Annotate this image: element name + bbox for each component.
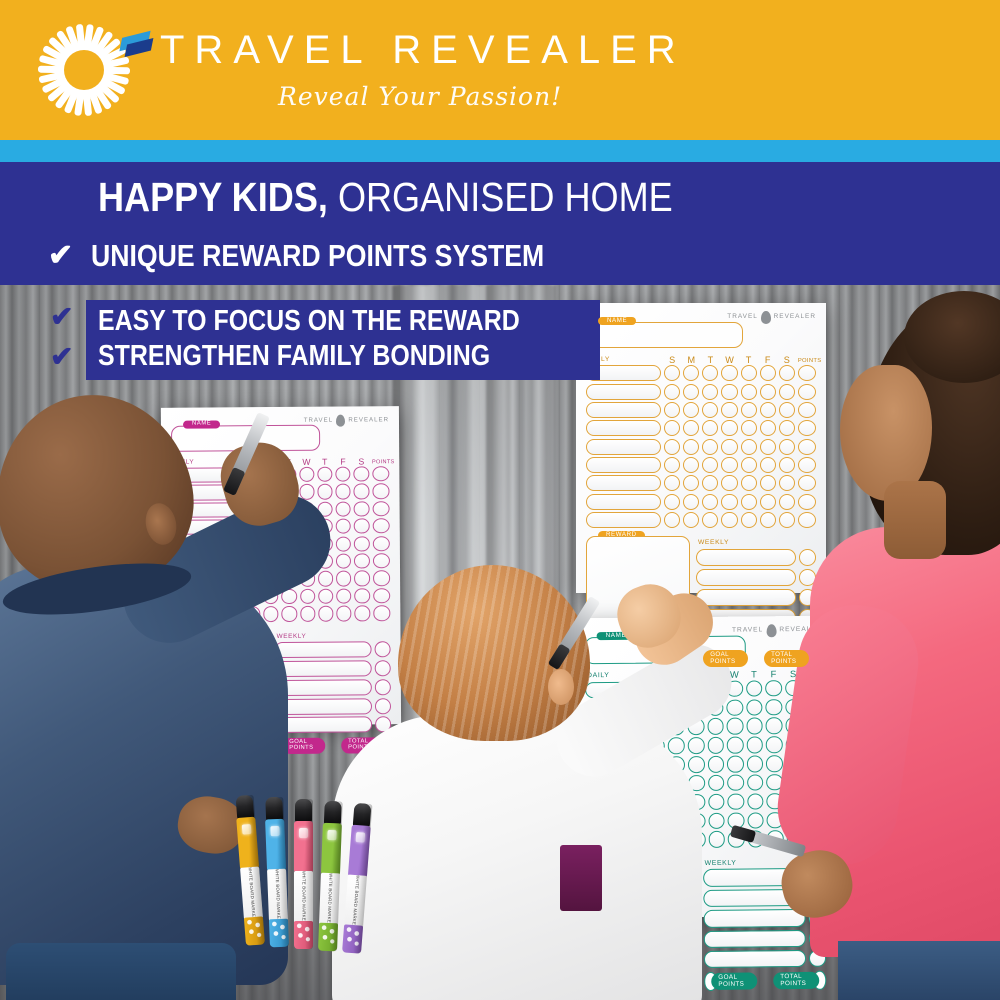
primary-bullet: ✔ UNIQUE REWARD POINTS SYSTEM <box>48 238 618 274</box>
points-circle[interactable] <box>798 402 816 418</box>
day-checkbox[interactable] <box>760 365 776 381</box>
day-checkbox[interactable] <box>721 384 737 400</box>
day-checkbox[interactable] <box>721 475 737 491</box>
day-checkbox[interactable] <box>721 439 737 455</box>
logo-dot-icon <box>761 311 771 324</box>
day-checkbox[interactable] <box>664 384 680 400</box>
headline-light: ORGANISED HOME <box>328 174 673 220</box>
primary-bullet-label: UNIQUE REWARD POINTS SYSTEM <box>91 238 544 274</box>
day-checkbox[interactable] <box>760 457 776 473</box>
day-checkbox[interactable] <box>664 420 680 436</box>
day-checkbox[interactable] <box>766 736 783 753</box>
day-checkbox[interactable] <box>318 571 333 586</box>
day-checkbox[interactable] <box>354 501 369 516</box>
secondary-bullet-box: EASY TO FOCUS ON THE REWARD STRENGTHEN F… <box>86 300 600 380</box>
day-checkbox[interactable] <box>721 365 737 381</box>
brand-text-block: TRAVEL REVEALER Reveal Your Passion! <box>160 30 686 111</box>
task-input[interactable] <box>586 384 661 400</box>
day-label-6: S <box>779 356 795 365</box>
weekly-task-row[interactable] <box>704 950 827 969</box>
day-checkbox[interactable] <box>779 439 795 455</box>
day-checkbox[interactable] <box>766 755 783 772</box>
cyan-divider-bar <box>0 140 1000 162</box>
child-right <box>828 305 1000 1000</box>
child-center <box>372 565 702 1000</box>
day-checkbox[interactable] <box>355 588 370 603</box>
day-label-3: W <box>721 356 737 365</box>
day-checkbox[interactable] <box>708 775 725 792</box>
day-checkbox[interactable] <box>702 494 718 510</box>
page-title: HAPPY KIDS, ORGANISED HOME <box>98 176 673 219</box>
points-circle[interactable] <box>798 420 816 436</box>
day-checkbox[interactable] <box>318 589 333 604</box>
day-checkbox[interactable] <box>354 571 369 586</box>
day-checkbox[interactable] <box>335 466 350 481</box>
day-checkbox[interactable] <box>702 402 718 418</box>
day-checkbox[interactable] <box>707 737 724 754</box>
marker-blue[interactable]: WHITE BOARD MARKER <box>264 797 289 948</box>
daily-task-row[interactable] <box>586 512 816 528</box>
day-checkbox[interactable] <box>336 554 351 569</box>
day-checkbox[interactable] <box>760 420 776 436</box>
day-checkbox[interactable] <box>760 512 776 528</box>
day-checkbox[interactable] <box>336 484 351 499</box>
weekly-task-input[interactable] <box>696 589 796 606</box>
day-checkbox[interactable] <box>721 494 737 510</box>
day-checkbox[interactable] <box>354 553 369 568</box>
task-input[interactable] <box>586 475 661 491</box>
secondary-bullet-label-0: EASY TO FOCUS ON THE REWARD <box>98 305 520 338</box>
headline-strong: HAPPY KIDS, <box>98 174 328 220</box>
day-checkbox[interactable] <box>741 420 757 436</box>
day-checkbox[interactable] <box>779 512 795 528</box>
points-circle[interactable] <box>798 439 816 455</box>
day-checkbox[interactable] <box>741 512 757 528</box>
day-checkbox[interactable] <box>779 384 795 400</box>
daily-task-row[interactable] <box>586 420 816 436</box>
day-checkbox[interactable] <box>741 439 757 455</box>
day-checkbox[interactable] <box>721 402 737 418</box>
day-header-row: SMTWTFSPOINTS <box>664 356 816 365</box>
day-checkbox[interactable] <box>741 475 757 491</box>
marker-pink[interactable]: WHITE BOARD MARKER <box>294 799 313 949</box>
brand-header: TRAVEL REVEALER Reveal Your Passion! <box>0 0 1000 140</box>
day-checkbox[interactable] <box>741 457 757 473</box>
chore-chart-orange[interactable]: TRAVELREVEALERNAMEDAILYSMTWTFSPOINTSREWA… <box>576 303 826 593</box>
day-checkbox[interactable] <box>760 439 776 455</box>
check-icon: ✔ <box>50 343 73 371</box>
total-points-badge[interactable]: TOTAL POINTS <box>773 971 826 990</box>
marker-set: WHITE BOARD MARKERWHITE BOARD MARKERWHIT… <box>246 795 378 960</box>
task-input[interactable] <box>586 512 661 528</box>
day-checkbox[interactable] <box>354 536 369 551</box>
day-checkbox[interactable] <box>702 475 718 491</box>
name-label: NAME <box>598 317 636 325</box>
day-checkbox[interactable] <box>683 512 699 528</box>
goal-points-badge[interactable]: GOAL POINTS <box>704 972 757 991</box>
day-checkbox[interactable] <box>664 475 680 491</box>
points-circle[interactable] <box>798 457 816 473</box>
day-checkbox[interactable] <box>702 512 718 528</box>
weekly-task-row[interactable] <box>696 549 816 566</box>
day-checkbox[interactable] <box>721 512 737 528</box>
daily-task-row[interactable] <box>586 439 816 455</box>
day-checkbox[interactable] <box>708 831 725 848</box>
daily-task-row[interactable] <box>586 384 816 400</box>
marker-green[interactable]: WHITE BOARD MARKER <box>318 801 343 952</box>
task-input[interactable] <box>586 420 661 436</box>
marker-shading <box>305 799 313 949</box>
day-checkbox[interactable] <box>760 494 776 510</box>
day-checkbox[interactable] <box>664 439 680 455</box>
product-photo: TRAVELREVEALERNAMEDAILYSMTWTFSPOINTSREWA… <box>0 285 1000 1000</box>
points-circle[interactable] <box>372 518 389 533</box>
day-checkbox[interactable] <box>683 384 699 400</box>
name-input[interactable] <box>586 322 743 349</box>
day-checkbox[interactable] <box>702 365 718 381</box>
day-checkbox[interactable] <box>765 699 782 716</box>
day-checkbox[interactable] <box>760 402 776 418</box>
logo-dot-icon <box>766 624 776 637</box>
day-checkbox[interactable] <box>683 365 699 381</box>
day-checkbox[interactable] <box>683 420 699 436</box>
day-checkbox[interactable] <box>741 384 757 400</box>
weekly-task-input[interactable] <box>703 930 805 948</box>
weekly-task-input[interactable] <box>696 549 796 566</box>
day-checkbox[interactable] <box>664 365 680 381</box>
day-checkbox[interactable] <box>747 774 764 791</box>
total-points-label: TOTAL POINTS <box>764 650 809 666</box>
daily-task-row[interactable] <box>586 457 816 473</box>
points-circle[interactable] <box>798 384 816 400</box>
day-checkbox[interactable] <box>683 439 699 455</box>
product-listing-image: TRAVEL REVEALER Reveal Your Passion! HAP… <box>0 0 1000 1000</box>
day-checkbox[interactable] <box>354 519 369 534</box>
day-checkbox[interactable] <box>354 466 369 481</box>
day-label-5: F <box>760 356 776 365</box>
sunburst-logo-icon <box>44 22 124 118</box>
total-points-label: TOTAL POINTS <box>773 972 819 989</box>
check-icon: ✔ <box>50 303 73 331</box>
day-checkbox[interactable] <box>702 420 718 436</box>
day-checkbox[interactable] <box>721 457 737 473</box>
day-checkbox[interactable] <box>746 680 763 697</box>
chart-logo-right: REVEALER <box>774 314 816 320</box>
day-checkbox[interactable] <box>683 402 699 418</box>
day-checkbox[interactable] <box>727 718 744 735</box>
goal-points-label: GOAL POINTS <box>703 650 748 666</box>
day-checkbox[interactable] <box>336 606 351 621</box>
day-label-4: T <box>317 458 332 467</box>
day-label-6: S <box>354 458 369 467</box>
day-checkbox[interactable] <box>336 501 351 516</box>
task-input[interactable] <box>586 439 661 455</box>
day-checkbox[interactable] <box>747 793 764 810</box>
day-checkbox[interactable] <box>746 699 763 716</box>
check-icon: ✔ <box>48 241 73 271</box>
day-checkbox[interactable] <box>765 680 782 697</box>
points-badges: GOAL POINTSTOTAL POINTS <box>704 971 827 991</box>
weekly-task-row[interactable] <box>696 589 816 606</box>
day-checkbox[interactable] <box>707 718 724 735</box>
weekly-label: WEEKLY <box>698 540 816 547</box>
day-checkbox[interactable] <box>746 718 763 735</box>
day-checkbox[interactable] <box>760 475 776 491</box>
day-checkbox[interactable] <box>779 457 795 473</box>
day-checkbox[interactable] <box>727 756 744 773</box>
daily-task-row[interactable] <box>586 402 816 418</box>
points-circle[interactable] <box>372 484 389 499</box>
day-checkbox[interactable] <box>760 384 776 400</box>
day-checkbox[interactable] <box>746 737 763 754</box>
day-checkbox[interactable] <box>779 402 795 418</box>
day-checkbox[interactable] <box>779 475 795 491</box>
secondary-bullet-label-1: STRENGTHEN FAMILY BONDING <box>98 340 520 373</box>
day-checkbox[interactable] <box>708 794 725 811</box>
weekly-task-input[interactable] <box>704 950 806 968</box>
day-checkbox[interactable] <box>707 756 724 773</box>
day-label-2: T <box>702 356 718 365</box>
chart-logo-left: TRAVEL <box>304 418 333 424</box>
day-checkbox[interactable] <box>354 484 369 499</box>
day-checkbox[interactable] <box>664 512 680 528</box>
chart-logo-left: TRAVEL <box>727 314 758 320</box>
goal-points-label: GOAL POINTS <box>711 973 757 990</box>
day-checkbox[interactable] <box>779 420 795 436</box>
day-checkbox[interactable] <box>664 457 680 473</box>
chart-logo-right: REVEALER <box>348 417 389 423</box>
weekly-task-row[interactable] <box>696 569 816 586</box>
day-checkbox[interactable] <box>747 812 764 829</box>
day-checkbox[interactable] <box>702 457 718 473</box>
day-checkbox[interactable] <box>683 494 699 510</box>
day-checkbox[interactable] <box>708 812 725 829</box>
weekly-task-input[interactable] <box>703 909 805 927</box>
day-label-5: F <box>765 670 782 680</box>
day-checkbox[interactable] <box>702 384 718 400</box>
weekly-task-row[interactable] <box>703 929 826 948</box>
logo-dot-icon <box>336 415 345 427</box>
task-input[interactable] <box>586 402 661 418</box>
points-circle[interactable] <box>372 466 389 481</box>
day-checkbox[interactable] <box>779 365 795 381</box>
brand-tagline: Reveal Your Passion! <box>278 82 686 111</box>
day-checkbox[interactable] <box>727 793 744 810</box>
chart-logo-left: TRAVEL <box>732 628 763 635</box>
day-checkbox[interactable] <box>741 402 757 418</box>
day-checkbox[interactable] <box>336 519 351 534</box>
day-checkbox[interactable] <box>336 536 351 551</box>
day-checkbox[interactable] <box>336 571 351 586</box>
daily-task-row[interactable] <box>586 365 816 381</box>
points-circle[interactable] <box>798 512 816 528</box>
day-checkbox[interactable] <box>727 774 744 791</box>
day-checkbox[interactable] <box>766 718 783 735</box>
day-checkbox[interactable] <box>726 699 743 716</box>
day-checkbox[interactable] <box>683 457 699 473</box>
day-checkbox[interactable] <box>318 606 333 621</box>
magnet-strip <box>560 845 602 911</box>
day-label-5: F <box>335 458 350 467</box>
points-circle[interactable] <box>373 536 390 551</box>
daily-task-row[interactable] <box>586 475 816 491</box>
day-checkbox[interactable] <box>336 588 351 603</box>
day-checkbox[interactable] <box>727 737 744 754</box>
day-label-0: S <box>664 356 680 365</box>
day-checkbox[interactable] <box>355 606 370 621</box>
day-label-1: M <box>683 356 699 365</box>
day-checkbox[interactable] <box>317 484 332 499</box>
weekly-points-circle[interactable] <box>799 549 816 566</box>
day-label-4: T <box>741 356 757 365</box>
task-input[interactable] <box>586 457 661 473</box>
day-checkbox[interactable] <box>741 365 757 381</box>
points-circle[interactable] <box>372 501 389 516</box>
points-circle[interactable] <box>798 475 816 491</box>
day-checkbox[interactable] <box>702 439 718 455</box>
day-checkbox[interactable] <box>721 420 737 436</box>
task-input[interactable] <box>586 494 661 510</box>
marker-purple[interactable]: WHITE BOARD MARKER <box>342 803 372 954</box>
day-checkbox[interactable] <box>747 755 764 772</box>
day-checkbox[interactable] <box>664 494 680 510</box>
points-circle[interactable] <box>798 494 816 510</box>
brand-name: TRAVEL REVEALER <box>160 30 686 70</box>
weekly-task-input[interactable] <box>696 569 796 586</box>
day-checkbox[interactable] <box>779 494 795 510</box>
day-checkbox[interactable] <box>683 475 699 491</box>
day-checkbox[interactable] <box>664 402 680 418</box>
daily-task-row[interactable] <box>586 494 816 510</box>
day-label-4: T <box>746 671 763 681</box>
points-circle[interactable] <box>798 365 816 381</box>
day-checkbox[interactable] <box>741 494 757 510</box>
day-checkbox[interactable] <box>317 467 332 482</box>
